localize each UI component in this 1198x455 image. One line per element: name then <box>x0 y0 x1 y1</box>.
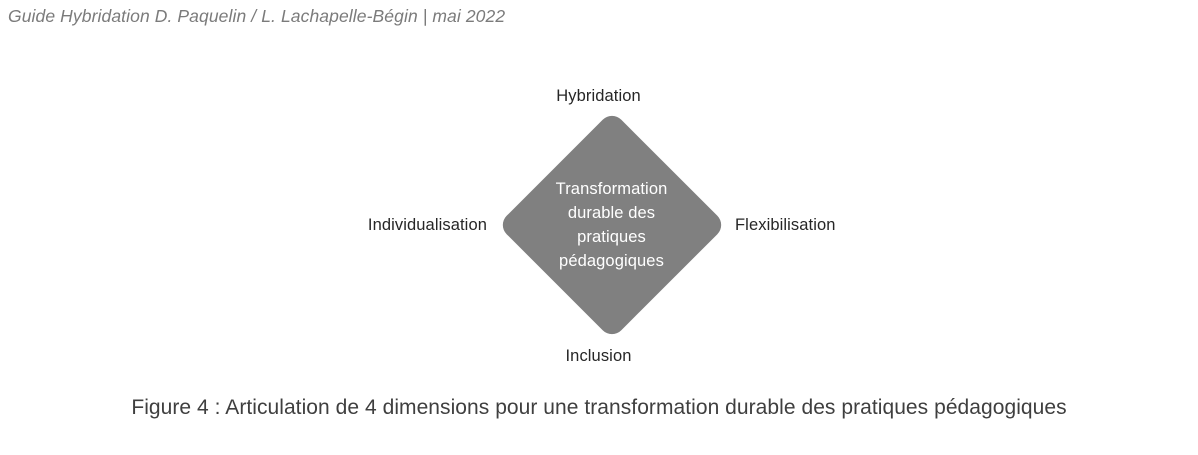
diamond-center-text: Transformation durable des pratiques péd… <box>497 110 726 340</box>
center-text-line-3: pratiques <box>556 225 668 249</box>
center-text-line-1: Transformation <box>556 177 668 201</box>
diamond-container: Transformation durable des pratiques péd… <box>497 110 726 340</box>
dimension-label-hybridation: Hybridation <box>0 85 1198 107</box>
center-text-line-2: durable des <box>556 201 668 225</box>
figure-4: Hybridation Individualisation Flexibilis… <box>0 0 1198 455</box>
dimension-label-flexibilisation: Flexibilisation <box>735 214 836 236</box>
dimension-label-individualisation: Individualisation <box>368 214 487 236</box>
center-text-line-4: pédagogiques <box>556 249 668 273</box>
diamond-diagram: Hybridation Individualisation Flexibilis… <box>0 0 1198 380</box>
figure-caption: Figure 4 : Articulation de 4 dimensions … <box>0 394 1198 422</box>
dimension-label-inclusion: Inclusion <box>0 345 1198 367</box>
diamond-center-text-lines: Transformation durable des pratiques péd… <box>556 177 668 273</box>
